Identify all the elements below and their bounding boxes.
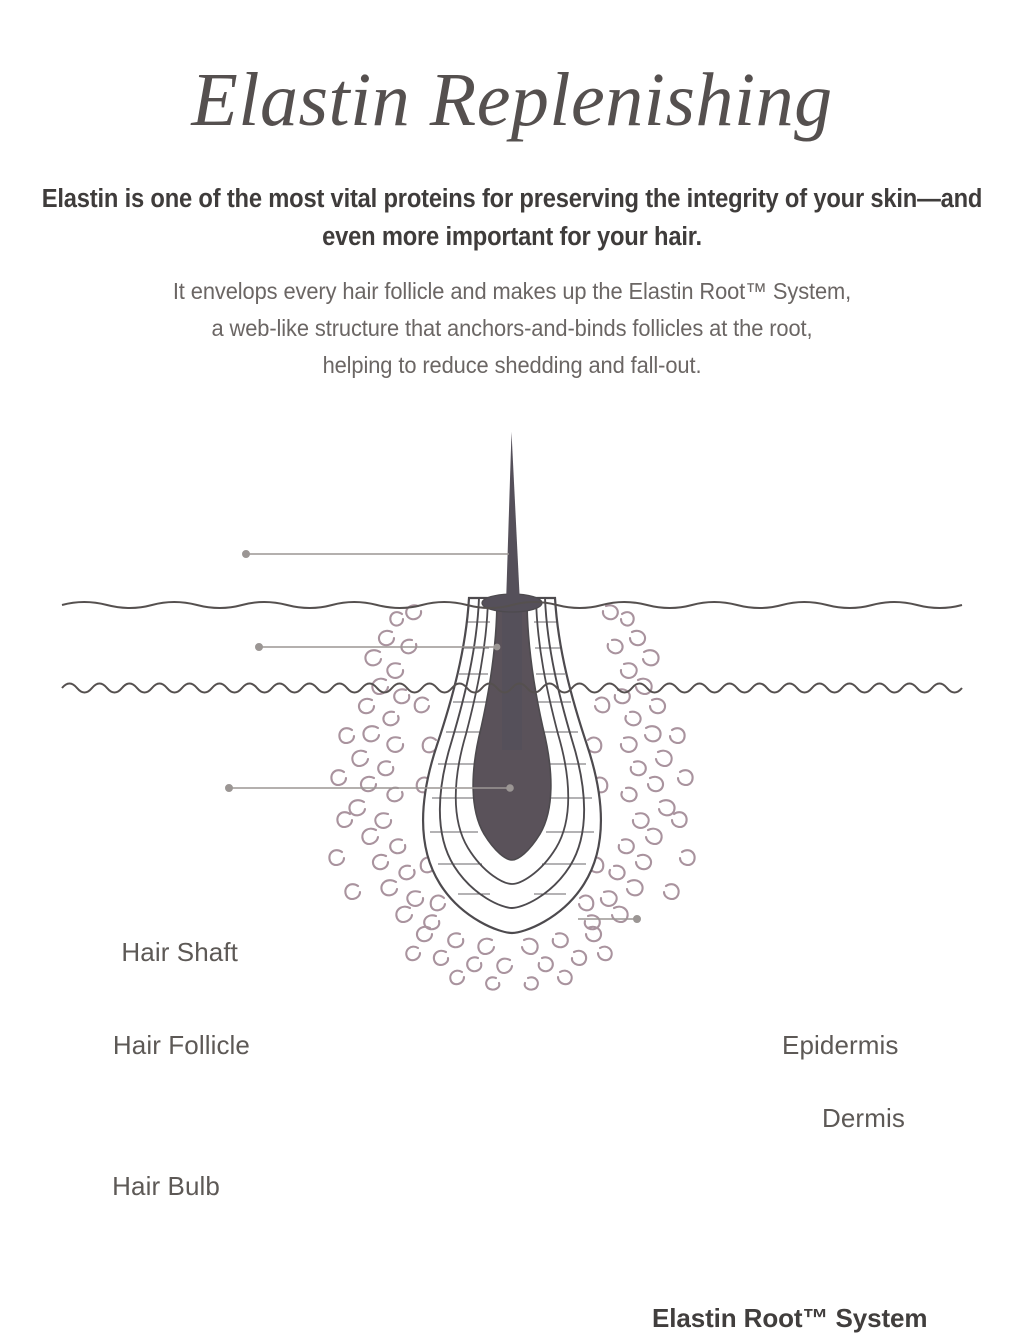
body-line-2: a web-like structure that anchors-and-bi… — [26, 310, 999, 347]
label-hair-bulb: Hair Bulb — [112, 1171, 220, 1202]
infographic-page: Elastin Replenishing Elastin is one of t… — [0, 0, 1024, 1024]
subtitle-line-1: Elastin is one of the most vital protein… — [42, 185, 681, 213]
header-block: Elastin Replenishing Elastin is one of t… — [0, 0, 1024, 384]
label-hair-shaft: Hair Shaft — [121, 937, 238, 968]
body-paragraph: It envelops every hair follicle and make… — [26, 256, 999, 384]
diagram-svg — [0, 400, 1024, 1024]
label-dermis: Dermis — [822, 1103, 905, 1134]
subtitle-text: Elastin is one of the most vital protein… — [36, 138, 988, 256]
label-hair-follicle: Hair Follicle — [113, 1030, 250, 1061]
label-elastin-root-system: Elastin Root™ System — [652, 1303, 927, 1334]
leader-hair-shaft — [243, 551, 509, 557]
body-line-1: It envelops every hair follicle and make… — [26, 273, 999, 310]
body-line-3: helping to reduce shedding and fall-out. — [26, 347, 999, 384]
label-epidermis: Epidermis — [782, 1030, 899, 1061]
page-title: Elastin Replenishing — [0, 0, 1024, 138]
hair-follicle-diagram: Hair Shaft Hair Follicle Hair Bulb Epide… — [0, 400, 1024, 1024]
